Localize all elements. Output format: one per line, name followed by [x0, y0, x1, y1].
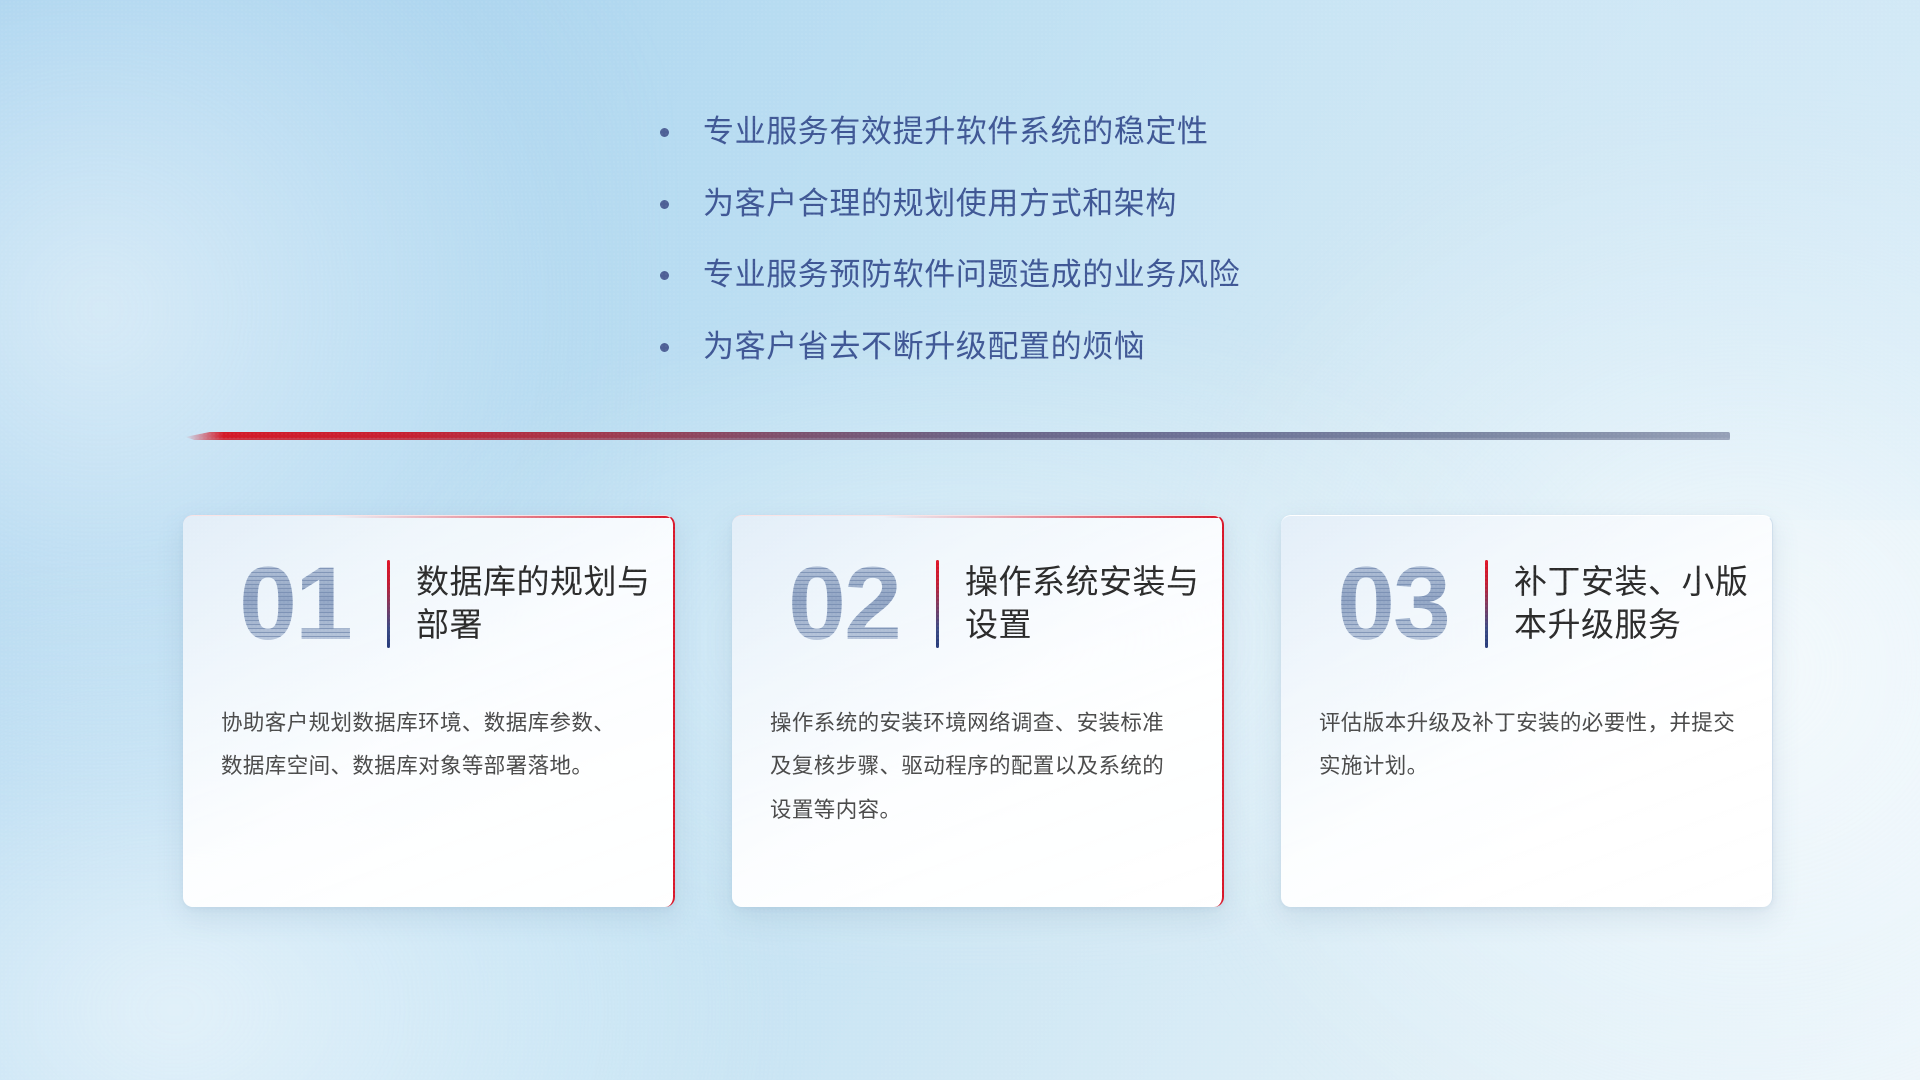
card-number-watermark: 03 — [1305, 552, 1481, 656]
card-header: 02 操作系统安装与设置 — [732, 516, 1222, 666]
slide-stage: 专业服务有效提升软件系统的稳定性 为客户合理的规划使用方式和架构 专业服务预防软… — [0, 0, 1920, 1080]
divider-hairline — [208, 438, 1730, 440]
bullet-item: 为客户合理的规划使用方式和架构 — [660, 184, 1420, 224]
service-card-01[interactable]: 01 数据库的规划与部署 协助客户规划数据库环境、数据库参数、数据库空间、数据库… — [183, 515, 675, 907]
card-body-text: 协助客户规划数据库环境、数据库参数、数据库空间、数据库对象等部署落地。 — [183, 666, 673, 789]
bullet-item: 为客户省去不断升级配置的烦恼 — [660, 327, 1420, 367]
bullet-dot-icon — [660, 200, 669, 209]
bullet-dot-icon — [660, 343, 669, 352]
decorative-divider-line — [185, 432, 1730, 440]
card-title: 操作系统安装与设置 — [965, 561, 1200, 647]
benefits-bullet-list: 专业服务有效提升软件系统的稳定性 为客户合理的规划使用方式和架构 专业服务预防软… — [660, 112, 1420, 399]
card-header: 03 补丁安装、小版本升级服务 — [1281, 516, 1772, 666]
service-card-03[interactable]: 03 补丁安装、小版本升级服务 评估版本升级及补丁安装的必要性，并提交实施计划。 — [1281, 515, 1773, 907]
bullet-text: 为客户合理的规划使用方式和架构 — [703, 184, 1177, 224]
bullet-text: 为客户省去不断升级配置的烦恼 — [703, 327, 1145, 367]
card-number-watermark: 01 — [207, 552, 383, 656]
card-title: 数据库的规划与部署 — [416, 561, 651, 647]
card-divider-bar — [936, 560, 939, 648]
card-body-text: 操作系统的安装环境网络调查、安装标准及复核步骤、驱动程序的配置以及系统的设置等内… — [732, 666, 1222, 832]
bullet-dot-icon — [660, 271, 669, 280]
card-body-text: 评估版本升级及补丁安装的必要性，并提交实施计划。 — [1281, 666, 1772, 789]
service-card-row: 01 数据库的规划与部署 协助客户规划数据库环境、数据库参数、数据库空间、数据库… — [183, 515, 1773, 915]
card-divider-bar — [387, 560, 390, 648]
card-number-watermark: 02 — [756, 552, 932, 656]
bullet-item: 专业服务预防软件问题造成的业务风险 — [660, 255, 1420, 295]
card-divider-bar — [1485, 560, 1488, 648]
card-title: 补丁安装、小版本升级服务 — [1514, 561, 1750, 647]
bullet-item: 专业服务有效提升软件系统的稳定性 — [660, 112, 1420, 152]
service-card-02[interactable]: 02 操作系统安装与设置 操作系统的安装环境网络调查、安装标准及复核步骤、驱动程… — [732, 515, 1224, 907]
card-header: 01 数据库的规划与部署 — [183, 516, 673, 666]
bullet-text: 专业服务有效提升软件系统的稳定性 — [703, 112, 1209, 152]
bullet-dot-icon — [660, 128, 669, 137]
bullet-text: 专业服务预防软件问题造成的业务风险 — [703, 255, 1240, 295]
